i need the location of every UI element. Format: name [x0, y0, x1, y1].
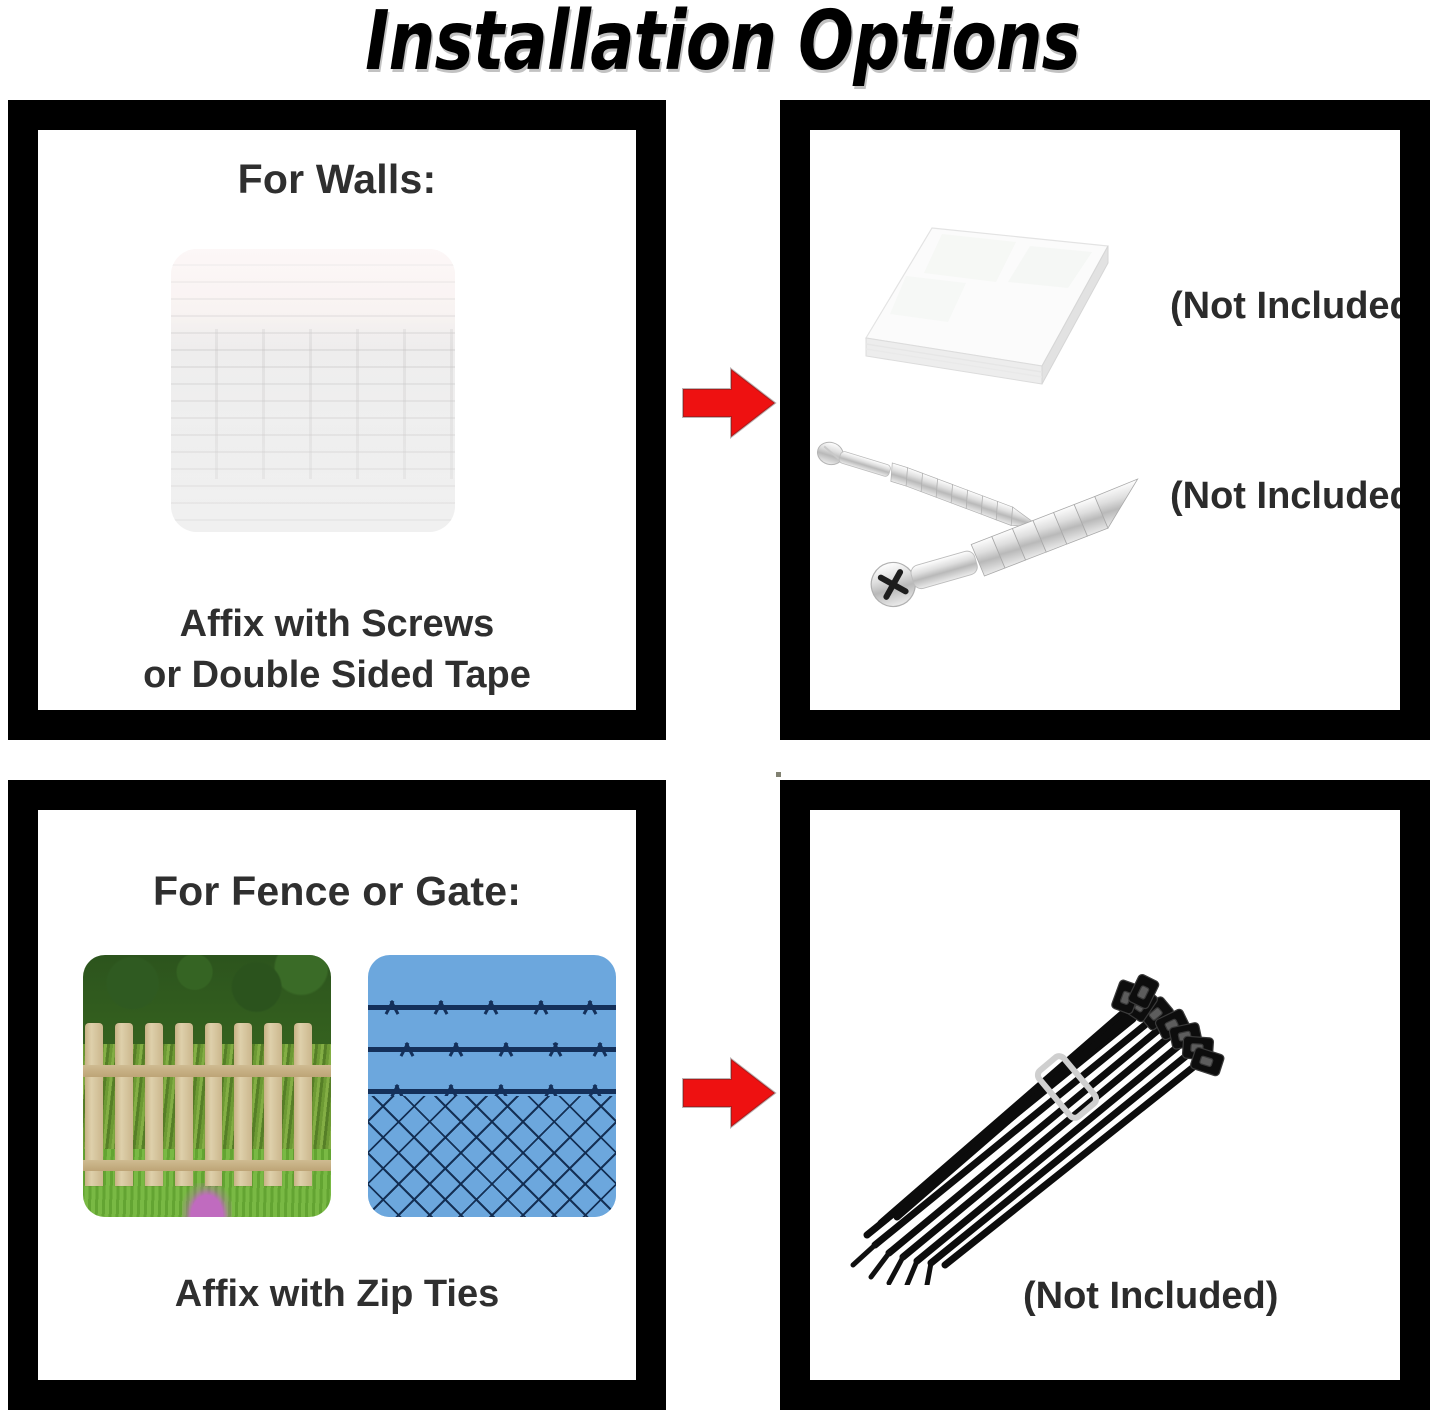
infographic-canvas: Installation Options For Walls: Affix wi…: [0, 0, 1445, 1422]
screws-icon: [810, 430, 1186, 620]
chain-link-fence-photo: [368, 955, 616, 1217]
for-walls-caption-line-2: or Double Sided Tape: [38, 651, 636, 700]
wood-screws-image: [810, 430, 1186, 620]
picket-fence-photo: [83, 955, 331, 1217]
for-fence-heading: For Fence or Gate:: [38, 868, 636, 915]
screws-not-included-label: (Not Included): [1170, 475, 1400, 518]
panel-zip-ties: (Not Included): [780, 780, 1430, 1410]
tape-not-included-label: (Not Included): [1170, 285, 1400, 328]
zip-ties-icon: [845, 905, 1325, 1285]
panel-for-fence-or-gate-inner: For Fence or Gate:: [38, 810, 636, 1380]
for-walls-heading: For Walls:: [38, 156, 636, 203]
double-sided-tape-image: [846, 218, 1118, 400]
arrow-right-icon-bottom: [681, 1055, 777, 1131]
for-walls-caption-line-1: Affix with Screws: [38, 600, 636, 649]
zip-tie-bundle-image: [845, 905, 1325, 1285]
tape-stack-icon: [846, 218, 1118, 400]
for-fence-caption: Affix with Zip Ties: [38, 1270, 636, 1319]
panel-zip-ties-inner: (Not Included): [810, 810, 1400, 1380]
panel-wall-hardware: (Not Included): [780, 100, 1430, 740]
page-title: Installation Options: [145, 0, 1301, 92]
white-brick-wall-image: [171, 249, 455, 532]
arrow-right-icon-top: [681, 365, 777, 441]
panel-wall-hardware-inner: (Not Included): [810, 130, 1400, 710]
image-artifact-speck: [776, 772, 781, 777]
panel-for-fence-or-gate: For Fence or Gate:: [8, 780, 666, 1410]
zip-ties-not-included-label: (Not Included): [1023, 1275, 1278, 1318]
panel-for-walls: For Walls: Affix with Screws or Double S…: [8, 100, 666, 740]
panel-for-walls-inner: For Walls: Affix with Screws or Double S…: [38, 130, 636, 710]
